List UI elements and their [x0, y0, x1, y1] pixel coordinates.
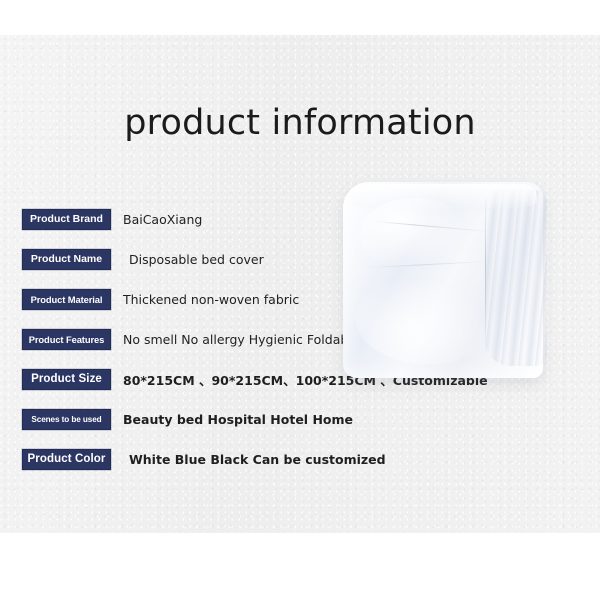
spec-label-scenes-to-be-used: Scenes to be used — [22, 409, 111, 430]
spec-value-product-brand: BaiCaoXiang — [123, 212, 202, 227]
page-title: product information — [0, 103, 600, 143]
spec-label-product-size: Product Size — [22, 369, 111, 390]
spec-label-product-material: Product Material — [22, 289, 111, 310]
spec-label-product-features: Product Features — [22, 329, 111, 350]
package-side-folds — [485, 190, 547, 366]
spec-row-product-color: Product Color White Blue Black Can be cu… — [22, 448, 542, 470]
spec-value-product-name: Disposable bed cover — [129, 252, 264, 267]
spec-label-product-name: Product Name — [22, 249, 111, 270]
product-photo — [335, 168, 563, 386]
package-fold-line-vertical — [485, 198, 486, 360]
spec-row-scenes-to-be-used: Scenes to be used Beauty bed Hospital Ho… — [22, 408, 542, 430]
spec-label-product-color: Product Color — [22, 449, 111, 470]
spec-value-product-color: White Blue Black Can be customized — [129, 452, 386, 467]
spec-value-scenes-to-be-used: Beauty bed Hospital Hotel Home — [123, 412, 353, 427]
spec-value-product-features: No smell No allergy Hygienic Foldable — [123, 332, 359, 347]
spec-label-product-brand: Product Brand — [22, 209, 111, 230]
spec-value-product-material: Thickened non-woven fabric — [123, 292, 299, 307]
product-information-page: product information Product Brand BaiCao… — [0, 0, 600, 600]
